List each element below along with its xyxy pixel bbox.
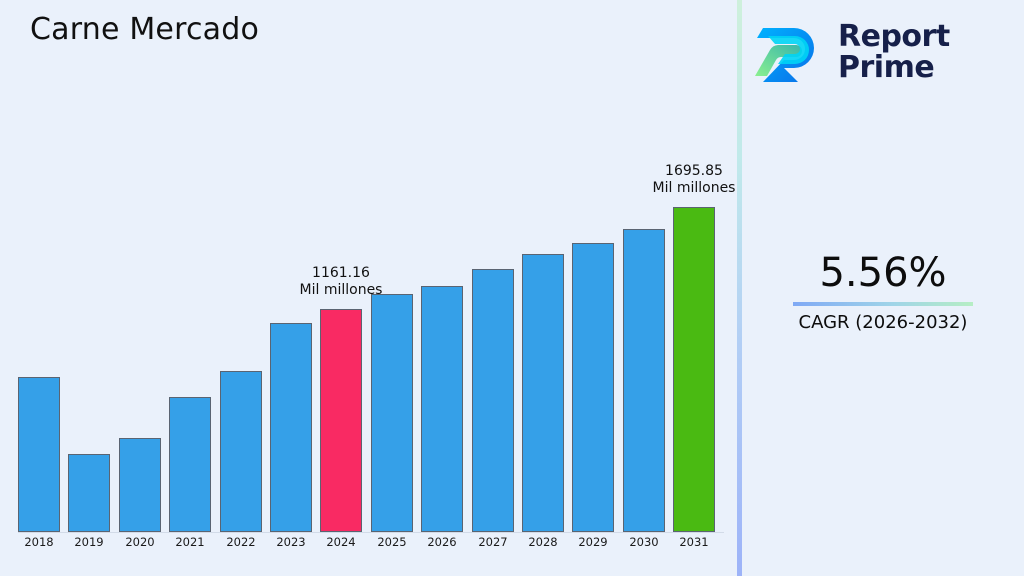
x-axis-label-2021: 2021 <box>164 535 216 549</box>
x-axis-label-2029: 2029 <box>567 535 619 549</box>
chart-panel: Carne Mercado 20182019202020212022202320… <box>0 0 740 576</box>
x-axis-label-2023: 2023 <box>265 535 317 549</box>
x-axis-label-2018: 2018 <box>13 535 65 549</box>
brand-logo: Report Prime <box>754 14 1012 90</box>
bar-chart-plot: 20182019202020212022202320241161.16Mil m… <box>0 0 740 576</box>
report-prime-logo-icon <box>754 20 826 84</box>
brand-wordmark: Report Prime <box>838 21 950 83</box>
bar-2022[interactable] <box>220 371 262 532</box>
x-axis-label-2022: 2022 <box>215 535 267 549</box>
bar-2021[interactable] <box>169 397 211 532</box>
bar-2024[interactable] <box>320 309 362 532</box>
x-axis-label-2026: 2026 <box>416 535 468 549</box>
x-axis-label-2028: 2028 <box>517 535 569 549</box>
cagr-caption: CAGR (2026-2032) <box>742 312 1024 334</box>
bar-2028[interactable] <box>522 254 564 532</box>
bar-2019[interactable] <box>68 454 110 532</box>
brand-name-line1: Report <box>838 21 950 52</box>
bar-2025[interactable] <box>371 294 413 532</box>
bar-2020[interactable] <box>119 438 161 532</box>
bar-2029[interactable] <box>572 243 614 532</box>
cagr-divider-rule <box>793 302 973 306</box>
bar-2030[interactable] <box>623 229 665 532</box>
bar-2031[interactable] <box>673 207 715 532</box>
cagr-block: 5.56% CAGR (2026-2032) <box>742 250 1024 334</box>
bar-2018[interactable] <box>18 377 60 532</box>
x-axis-label-2024: 2024 <box>315 535 367 549</box>
x-axis-label-2019: 2019 <box>63 535 115 549</box>
cagr-value: 5.56% <box>742 250 1024 296</box>
x-axis-label-2031: 2031 <box>668 535 720 549</box>
callout-value: 1161.16 <box>271 265 411 282</box>
bar-2026[interactable] <box>421 286 463 532</box>
right-info-panel: Report Prime 5.56% CAGR (2026-2032) <box>742 0 1024 576</box>
x-axis-label-2030: 2030 <box>618 535 670 549</box>
brand-name-line2: Prime <box>838 52 950 83</box>
bar-2027[interactable] <box>472 269 514 532</box>
x-axis-line <box>18 532 724 533</box>
bar-2023[interactable] <box>270 323 312 532</box>
x-axis-label-2027: 2027 <box>467 535 519 549</box>
x-axis-label-2020: 2020 <box>114 535 166 549</box>
x-axis-label-2025: 2025 <box>366 535 418 549</box>
